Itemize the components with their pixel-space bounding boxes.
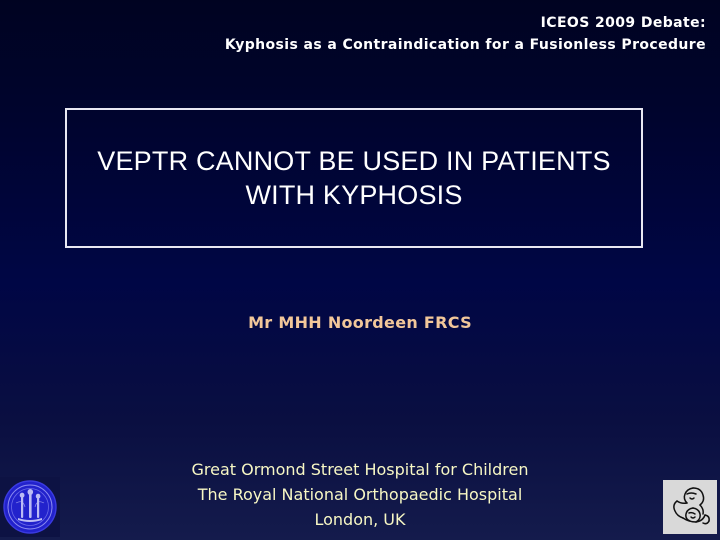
presentation-slide: ICEOS 2009 Debate: Kyphosis as a Contrai… (0, 0, 720, 540)
affiliation-block: Great Ormond Street Hospital for Childre… (0, 457, 720, 532)
header-line-1: ICEOS 2009 Debate: (0, 12, 706, 34)
header-line-2: Kyphosis as a Contraindication for a Fus… (0, 34, 706, 56)
affiliation-line-1: Great Ormond Street Hospital for Childre… (0, 457, 720, 482)
slide-title: VEPTR CANNOT BE USED IN PATIENTS WITH KY… (67, 144, 641, 212)
affiliation-line-2: The Royal National Orthopaedic Hospital (0, 482, 720, 507)
affiliation-line-3: London, UK (0, 507, 720, 532)
author-name: Mr MHH Noordeen FRCS (0, 313, 720, 332)
seal-icon (0, 477, 60, 537)
royal-national-orthopaedic-hospital-seal-logo (0, 477, 60, 537)
great-ormond-street-mother-and-child-logo (663, 480, 717, 534)
title-box: VEPTR CANNOT BE USED IN PATIENTS WITH KY… (65, 108, 643, 248)
mother-and-child-icon (663, 480, 717, 534)
slide-header: ICEOS 2009 Debate: Kyphosis as a Contrai… (0, 12, 706, 56)
